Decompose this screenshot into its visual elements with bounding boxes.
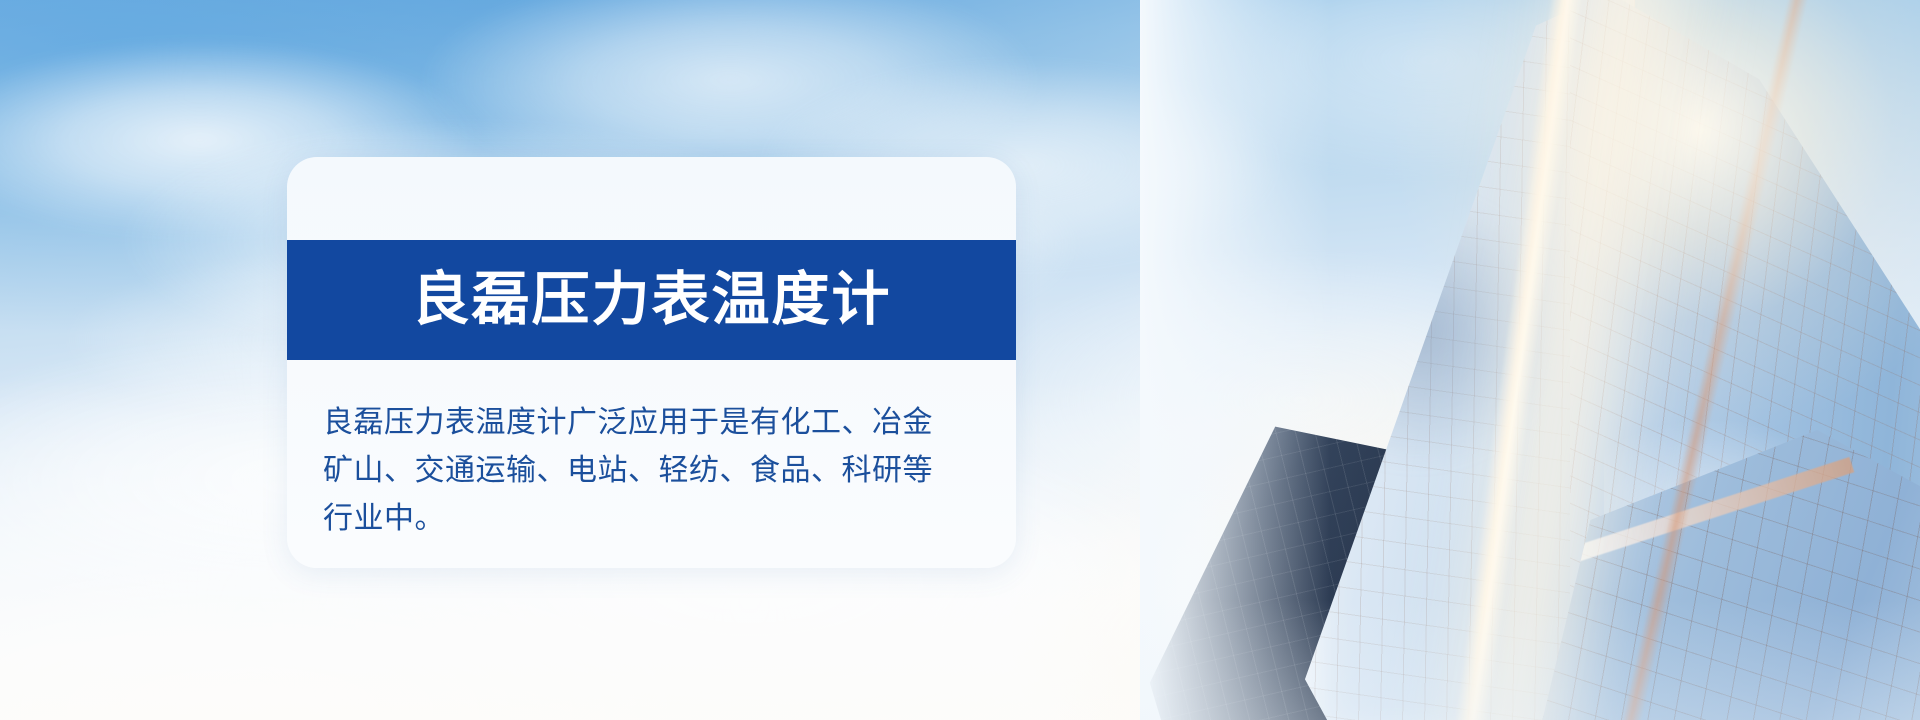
description-text: 良磊压力表温度计广泛应用于是有化工、冶金 矿山、交通运输、电站、轻纺、食品、科研…: [323, 399, 995, 543]
hero-banner: 良磊压力表温度计 良磊压力表温度计广泛应用于是有化工、冶金 矿山、交通运输、电站…: [0, 0, 1920, 720]
title-banner-bar: 良磊压力表温度计: [287, 240, 1016, 360]
description-line: 良磊压力表温度计广泛应用于是有化工、冶金: [323, 399, 995, 447]
description-line: 行业中。: [323, 495, 995, 543]
description-line: 矿山、交通运输、电站、轻纺、食品、科研等: [323, 447, 995, 495]
content-card: 良磊压力表温度计 良磊压力表温度计广泛应用于是有化工、冶金 矿山、交通运输、电站…: [287, 157, 1016, 568]
page-title: 良磊压力表温度计: [411, 271, 891, 329]
skyscraper-photo: [1140, 0, 1920, 720]
